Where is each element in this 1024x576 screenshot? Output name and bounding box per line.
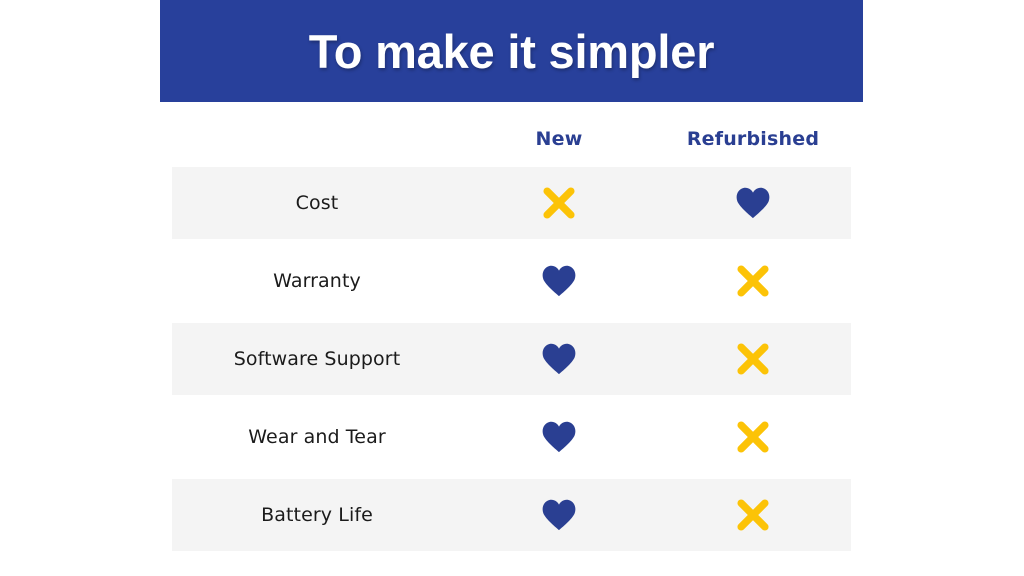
table-row: Cost [172, 167, 851, 239]
page-title: To make it simpler [309, 28, 715, 75]
cell-refurbished-cross-icon [656, 418, 850, 456]
table-header-row: New Refurbished [172, 110, 851, 167]
table-row: Software Support [172, 323, 851, 395]
table-row: Wear and Tear [172, 401, 851, 473]
comparison-table: New Refurbished CostWarrantySoftware Sup… [172, 110, 851, 557]
cell-new-heart-icon [462, 420, 656, 454]
table-row: Warranty [172, 245, 851, 317]
column-header-new: New [462, 128, 656, 150]
cell-refurbished-heart-icon [656, 186, 850, 220]
cell-refurbished-cross-icon [656, 496, 850, 534]
cell-refurbished-cross-icon [656, 262, 850, 300]
row-label-text: Warranty [273, 270, 361, 292]
row-label: Battery Life [172, 504, 462, 526]
row-label: Wear and Tear [172, 426, 462, 448]
row-label-text: Battery Life [261, 504, 373, 526]
row-label: Cost [172, 192, 462, 214]
row-label-text: Wear and Tear [248, 426, 385, 448]
row-label: Warranty [172, 270, 462, 292]
cell-new-heart-icon [462, 264, 656, 298]
table-row: Battery Life [172, 479, 851, 551]
cell-new-cross-icon [462, 184, 656, 222]
slide-canvas: To make it simpler New Refurbished CostW… [0, 0, 1024, 576]
cell-new-heart-icon [462, 342, 656, 376]
table-body: CostWarrantySoftware SupportWear and Tea… [172, 167, 851, 551]
row-label-text: Cost [296, 192, 339, 214]
column-header-refurbished-label: Refurbished [687, 128, 819, 150]
row-label-text: Software Support [234, 348, 401, 370]
cell-new-heart-icon [462, 498, 656, 532]
cell-refurbished-cross-icon [656, 340, 850, 378]
row-label: Software Support [172, 348, 462, 370]
title-banner: To make it simpler [160, 0, 863, 102]
column-header-refurbished: Refurbished [656, 128, 850, 150]
column-header-new-label: New [536, 128, 583, 150]
